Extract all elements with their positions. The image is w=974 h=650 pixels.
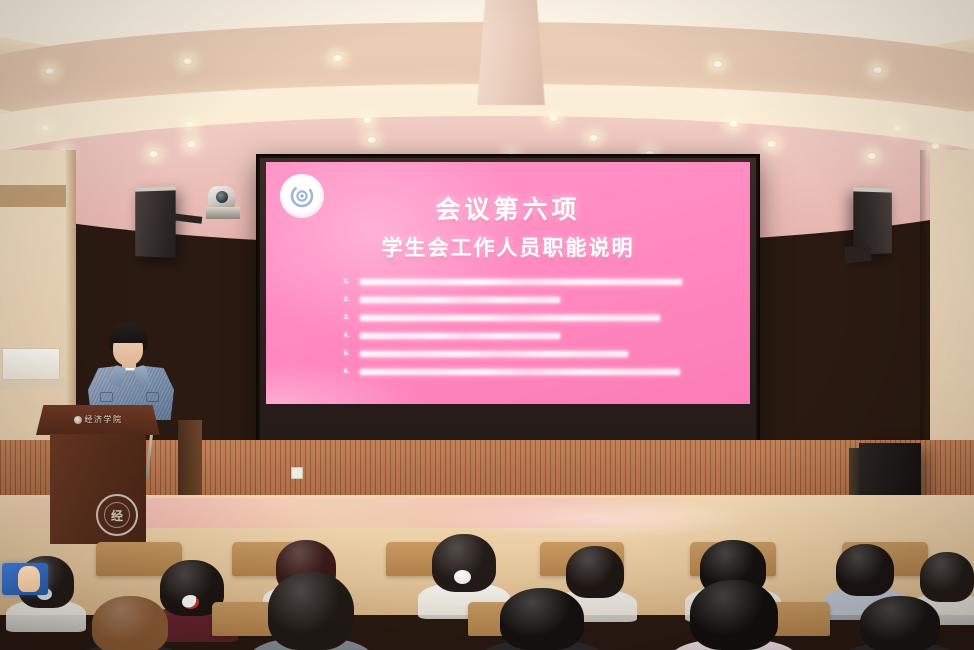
audience-member <box>432 534 496 592</box>
lectern-label: 经济学院 <box>36 414 160 425</box>
left-wall-stripe <box>0 185 72 207</box>
audience-member <box>92 596 168 650</box>
slide-bullet-number: 3. <box>344 315 354 321</box>
right-speaker-bracket <box>844 245 872 264</box>
slide-subtitle: 学生会工作人员职能说明 <box>266 232 750 262</box>
audience-member-hair <box>690 580 778 650</box>
audience-member-hair <box>500 588 584 650</box>
downlight-1 <box>44 67 55 75</box>
slide-bullet-number: 1. <box>344 279 354 285</box>
right-wall-speaker <box>853 187 891 254</box>
slide-bullet-number: 2. <box>344 297 354 303</box>
presenter-jacket-pocket-left <box>100 392 113 402</box>
projection-screen: 会议第六项 学生会工作人员职能说明 1.2.3.4.5.6. <box>258 156 758 452</box>
downlight-3 <box>332 54 343 62</box>
downlight-9 <box>362 116 373 124</box>
downlight-11 <box>548 114 559 122</box>
downlight-6 <box>40 124 51 132</box>
slide-bullet-text <box>360 315 660 321</box>
downlight-14 <box>766 140 777 148</box>
lectern-logo-icon <box>74 416 82 424</box>
audience-member-hair <box>836 544 894 596</box>
slide-bullet-number: 5. <box>344 351 354 357</box>
audience-member <box>690 580 778 650</box>
left-wall-white-box <box>2 348 60 380</box>
downlight-4 <box>712 60 723 68</box>
audience <box>0 498 974 650</box>
ptz-camera-body <box>208 186 235 208</box>
slide-title: 会议第六项 <box>266 190 750 226</box>
audience-member <box>920 552 974 602</box>
downlight-15 <box>892 124 903 132</box>
ceiling <box>0 0 974 162</box>
audience-member <box>860 596 940 650</box>
audience-member-hair <box>860 596 940 650</box>
audience-member-hair <box>92 596 168 650</box>
downlight-13 <box>728 120 739 128</box>
lectern-label-text: 经济学院 <box>85 414 123 425</box>
downlight-5 <box>872 66 883 74</box>
slide-bullet-item: 3. <box>344 310 684 325</box>
presenter-jacket-pocket-right <box>146 392 159 402</box>
audience-member <box>500 588 584 650</box>
audience-member <box>836 544 894 596</box>
audience-member <box>268 572 354 650</box>
wall-outlet <box>291 467 303 479</box>
downlight-16 <box>930 142 941 150</box>
slide-bullet-item: 4. <box>344 328 684 343</box>
audience-member-hair <box>920 552 974 602</box>
slide-bullet-text <box>360 333 560 339</box>
audience-member-hair <box>268 572 354 650</box>
ptz-camera-mount <box>206 207 240 219</box>
slide-bullet-number: 4. <box>344 333 354 339</box>
downlight-8 <box>186 140 197 148</box>
presenter <box>84 322 178 418</box>
slide-bullet-text <box>360 351 628 357</box>
ptz-camera-icon <box>206 186 242 220</box>
downlight-7 <box>184 120 195 128</box>
left-wall-shelf <box>0 380 68 389</box>
hair-scrunchie <box>182 595 199 609</box>
downlight-10 <box>366 136 377 144</box>
presentation-slide: 会议第六项 学生会工作人员职能说明 1.2.3.4.5.6. <box>266 162 750 404</box>
auditorium-scene: 会议第六项 学生会工作人员职能说明 1.2.3.4.5.6. <box>0 0 974 650</box>
slide-bullet-item: 2. <box>344 292 684 307</box>
wall-dark-column <box>178 420 202 506</box>
slide-bullet-item: 1. <box>344 274 684 289</box>
slide-bullet-text <box>360 297 560 303</box>
downlight-2 <box>182 57 193 65</box>
presenter-fringe <box>109 330 147 343</box>
slide-bullet-text <box>360 279 682 285</box>
hair-scrunchie <box>454 570 471 584</box>
audience-hand <box>18 566 40 592</box>
ptz-camera-lens <box>216 191 228 203</box>
downlight-12 <box>588 134 599 142</box>
left-wall-speaker <box>135 186 175 258</box>
slide-corner-glow <box>266 358 436 404</box>
ceiling-beam <box>477 0 545 105</box>
